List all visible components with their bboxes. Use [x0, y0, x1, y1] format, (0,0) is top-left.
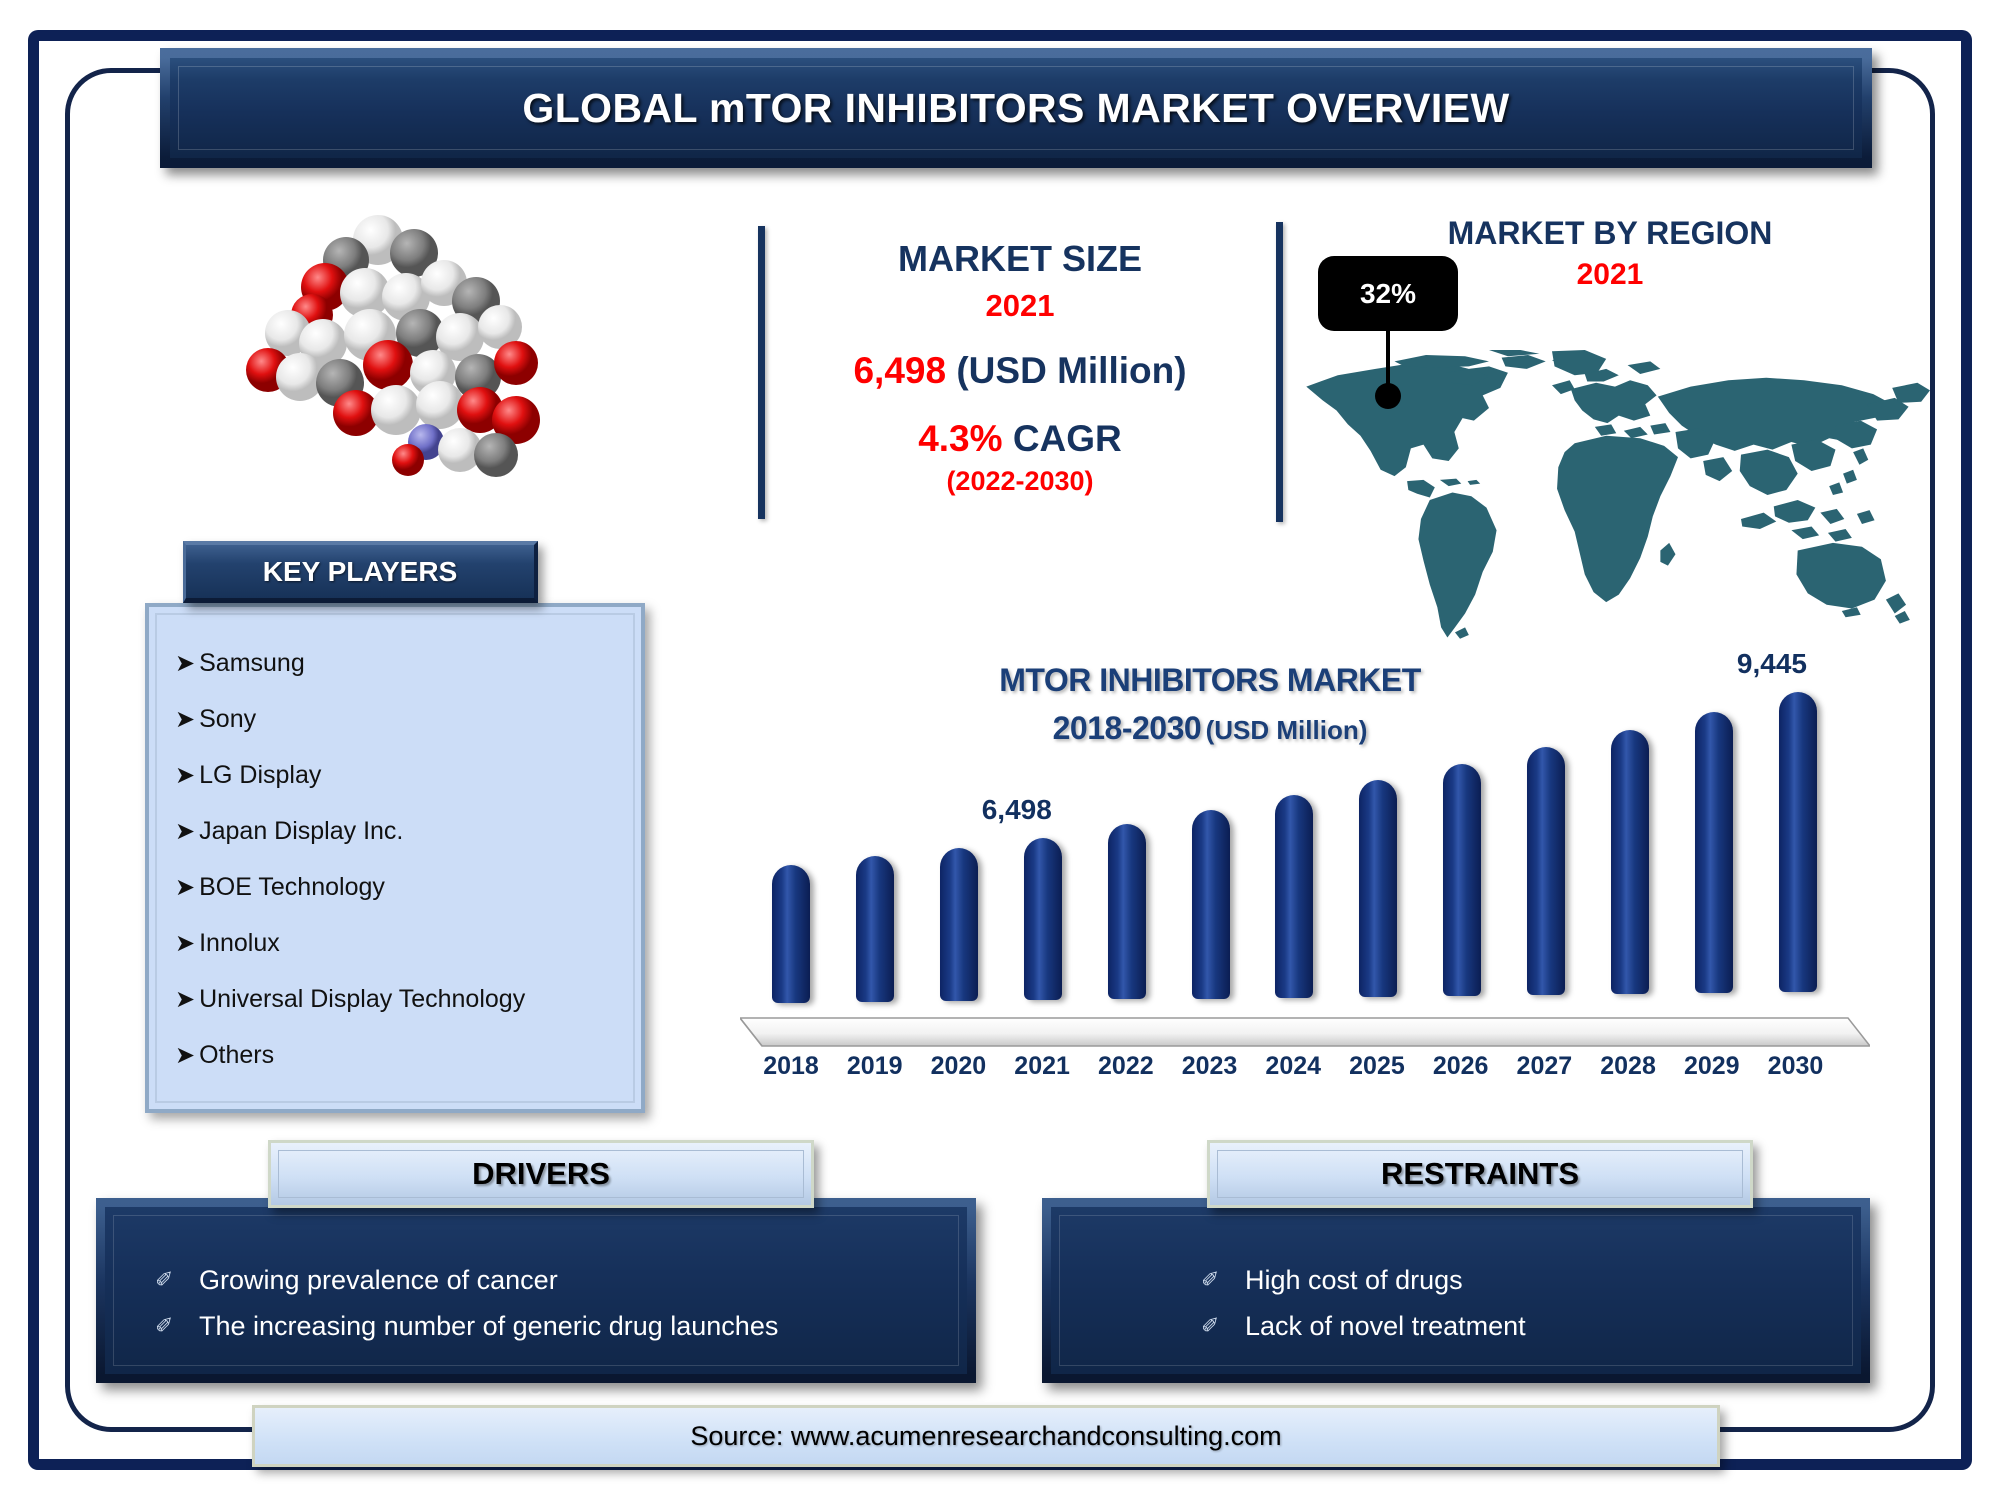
market-size-value-row: 6,498 (USD Million) — [790, 349, 1250, 393]
market-size-block: MARKET SIZE 2021 6,498 (USD Million) 4.3… — [790, 238, 1250, 498]
key-player-item: ➤Innolux — [175, 915, 627, 971]
x-axis-label: 2023 — [1171, 1052, 1249, 1081]
bullet-arrow-icon: ➤ — [175, 1041, 195, 1070]
x-axis-label: 2024 — [1254, 1052, 1332, 1081]
quill-bullet-icon: ✐ — [155, 1313, 199, 1339]
infographic-root: GLOBAL mTOR INHIBITORS MARKET OVERVIEW — [0, 0, 2000, 1500]
key-player-label: Universal Display Technology — [199, 985, 525, 1014]
restraint-item: ✐Lack of novel treatment — [1201, 1303, 1526, 1349]
molecule-image — [228, 205, 568, 495]
region-heading: MARKET BY REGION — [1360, 215, 1860, 252]
key-player-item: ➤Universal Display Technology — [175, 971, 627, 1027]
driver-item: ✐Growing prevalence of cancer — [155, 1257, 778, 1303]
key-player-label: LG Display — [199, 761, 321, 790]
key-player-label: BOE Technology — [199, 873, 385, 902]
market-size-year: 2021 — [790, 288, 1250, 325]
key-player-item: ➤BOE Technology — [175, 859, 627, 915]
x-axis-label: 2021 — [1003, 1052, 1081, 1081]
driver-label: The increasing number of generic drug la… — [199, 1311, 778, 1342]
drivers-list: ✐Growing prevalence of cancer✐The increa… — [155, 1257, 778, 1349]
x-axis-label: 2020 — [919, 1052, 997, 1081]
key-player-label: Japan Display Inc. — [199, 817, 403, 846]
bullet-arrow-icon: ➤ — [175, 985, 195, 1014]
restraints-header: RESTRAINTS — [1207, 1140, 1753, 1208]
x-axis-label: 2018 — [752, 1052, 830, 1081]
bar — [1779, 692, 1817, 992]
cagr-label: CAGR — [1013, 418, 1122, 459]
key-players-header: KEY PLAYERS — [183, 541, 538, 603]
x-axis-label: 2019 — [836, 1052, 914, 1081]
bar — [856, 856, 894, 1002]
key-player-item: ➤LG Display — [175, 747, 627, 803]
cagr-period: (2022-2030) — [790, 466, 1250, 498]
restraints-list: ✐High cost of drugs✐Lack of novel treatm… — [1201, 1257, 1526, 1349]
key-player-item: ➤Others — [175, 1027, 627, 1083]
market-size-unit: (USD Million) — [956, 350, 1186, 391]
x-axis-label: 2029 — [1673, 1052, 1751, 1081]
x-axis-label: 2022 — [1087, 1052, 1165, 1081]
bar — [772, 865, 810, 1003]
restraint-label: Lack of novel treatment — [1245, 1311, 1526, 1342]
bar — [1695, 712, 1733, 994]
x-axis-label: 2028 — [1589, 1052, 1667, 1081]
bar — [1527, 747, 1565, 995]
page-title: GLOBAL mTOR INHIBITORS MARKET OVERVIEW — [522, 85, 1509, 132]
key-player-label: Samsung — [199, 649, 305, 678]
bullet-arrow-icon: ➤ — [175, 705, 195, 734]
region-callout-value: 32% — [1360, 278, 1416, 310]
source-text: Source: www.acumenresearchandconsulting.… — [690, 1421, 1281, 1452]
bullet-arrow-icon: ➤ — [175, 817, 195, 846]
quill-bullet-icon: ✐ — [1201, 1267, 1245, 1293]
market-size-value: 6,498 — [853, 350, 946, 391]
bar — [1024, 838, 1062, 1000]
driver-label: Growing prevalence of cancer — [199, 1265, 558, 1296]
bar-value-label: 9,445 — [1737, 648, 1807, 680]
bullet-arrow-icon: ➤ — [175, 761, 195, 790]
chart-platform — [740, 1016, 1870, 1050]
region-callout-badge: 32% — [1318, 256, 1458, 331]
quill-bullet-icon: ✐ — [1201, 1313, 1245, 1339]
key-players-list: ➤Samsung➤Sony➤LG Display➤Japan Display I… — [175, 635, 627, 1083]
callout-marker-dot — [1375, 383, 1401, 409]
bullet-arrow-icon: ➤ — [175, 649, 195, 678]
bar-chart: 6,4989,445 — [740, 660, 1870, 1050]
restraint-label: High cost of drugs — [1245, 1265, 1463, 1296]
bar — [940, 848, 978, 1002]
bullet-arrow-icon: ➤ — [175, 929, 195, 958]
vertical-divider-right — [1276, 222, 1283, 522]
market-size-heading: MARKET SIZE — [790, 238, 1250, 280]
key-players-heading: KEY PLAYERS — [263, 556, 458, 588]
bar — [1275, 795, 1313, 997]
bar — [1443, 764, 1481, 996]
drivers-header: DRIVERS — [268, 1140, 814, 1208]
key-player-label: Others — [199, 1041, 274, 1070]
vertical-divider-left — [758, 226, 765, 519]
key-player-item: ➤Sony — [175, 691, 627, 747]
key-player-label: Innolux — [199, 929, 280, 958]
drivers-heading: DRIVERS — [472, 1156, 610, 1192]
bar-value-label: 6,498 — [982, 794, 1052, 826]
bullet-arrow-icon: ➤ — [175, 873, 195, 902]
x-axis-label: 2030 — [1756, 1052, 1834, 1081]
restraint-item: ✐High cost of drugs — [1201, 1257, 1526, 1303]
restraints-heading: RESTRAINTS — [1381, 1156, 1579, 1192]
bar — [1192, 810, 1230, 998]
drivers-panel: ✐Growing prevalence of cancer✐The increa… — [96, 1198, 976, 1383]
chart-bars: 6,4989,445 — [740, 660, 1870, 1025]
quill-bullet-icon: ✐ — [155, 1267, 199, 1293]
key-player-label: Sony — [199, 705, 256, 734]
cagr-row: 4.3% CAGR — [790, 417, 1250, 461]
key-player-item: ➤Japan Display Inc. — [175, 803, 627, 859]
restraints-panel: ✐High cost of drugs✐Lack of novel treatm… — [1042, 1198, 1870, 1383]
x-axis-label: 2027 — [1505, 1052, 1583, 1081]
driver-item: ✐The increasing number of generic drug l… — [155, 1303, 778, 1349]
x-axis-label: 2026 — [1422, 1052, 1500, 1081]
source-bar: Source: www.acumenresearchandconsulting.… — [252, 1405, 1720, 1467]
bar — [1359, 780, 1397, 997]
bar — [1611, 730, 1649, 994]
bar — [1108, 824, 1146, 999]
chart-x-axis-labels: 2018201920202021202220232024202520262027… — [740, 1052, 1870, 1098]
title-banner: GLOBAL mTOR INHIBITORS MARKET OVERVIEW — [160, 48, 1872, 168]
key-player-item: ➤Samsung — [175, 635, 627, 691]
cagr-value: 4.3% — [918, 418, 1002, 459]
key-players-panel: ➤Samsung➤Sony➤LG Display➤Japan Display I… — [145, 603, 645, 1113]
x-axis-label: 2025 — [1338, 1052, 1416, 1081]
